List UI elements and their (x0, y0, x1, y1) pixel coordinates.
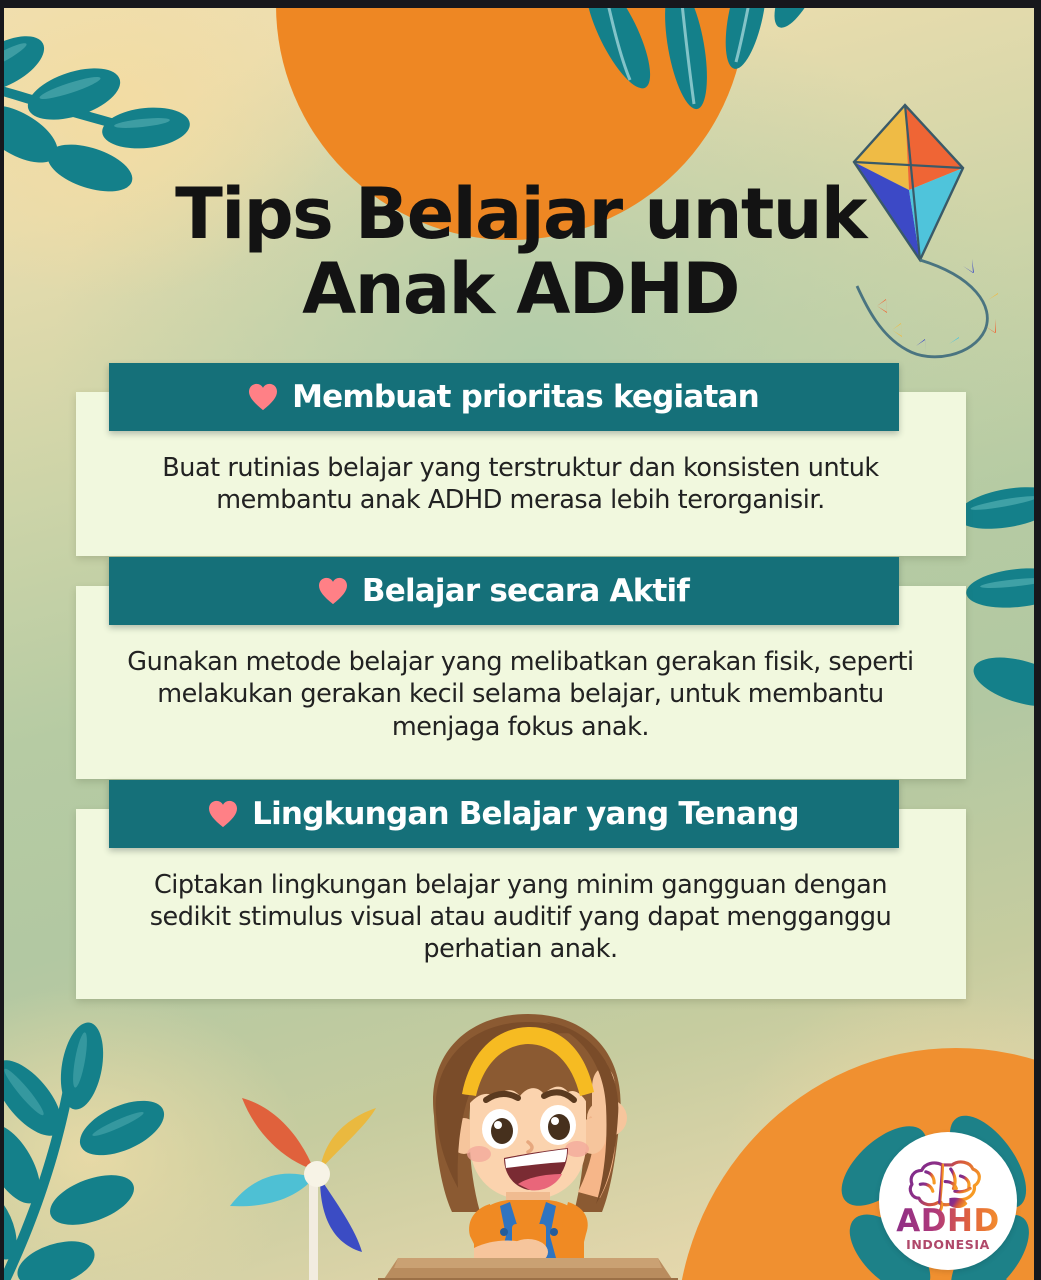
tip-card: Buat rutinias belajar yang terstruktur d… (76, 392, 966, 556)
tip-description: Buat rutinias belajar yang terstruktur d… (120, 452, 922, 516)
tip-card: Gunakan metode belajar yang melibatkan g… (76, 586, 966, 778)
frame-edge-right (1034, 0, 1041, 1280)
title-line-1: Tips Belajar untuk (60, 178, 981, 251)
tip-card-header: Belajar secara Aktif (109, 557, 899, 625)
tip-card-header: Membuat prioritas kegiatan (109, 363, 899, 431)
frame-edge-left (0, 0, 4, 1280)
heart-icon (208, 800, 238, 828)
infographic-poster: Tips Belajar untuk Anak ADHD Buat rutini… (0, 0, 1041, 1280)
tip-description: Ciptakan lingkungan belajar yang minim g… (120, 869, 922, 965)
tip-title: Lingkungan Belajar yang Tenang (252, 796, 799, 832)
page-title: Tips Belajar untuk Anak ADHD (0, 178, 1041, 326)
frame-edge-top (0, 0, 1041, 8)
tip-title: Membuat prioritas kegiatan (292, 379, 759, 415)
title-line-2: Anak ADHD (60, 253, 981, 326)
adhd-indonesia-logo: ADHD INDONESIA (879, 1132, 1017, 1270)
tip-card-header: Lingkungan Belajar yang Tenang (109, 780, 899, 848)
tip-title: Belajar secara Aktif (362, 573, 689, 609)
tip-description: Gunakan metode belajar yang melibatkan g… (120, 646, 922, 742)
tips-list: Buat rutinias belajar yang terstruktur d… (0, 392, 1041, 999)
heart-icon (248, 383, 278, 411)
tip-card: Ciptakan lingkungan belajar yang minim g… (76, 809, 966, 999)
logo-wordmark: ADHD (896, 1206, 999, 1237)
logo-subtitle: INDONESIA (906, 1237, 990, 1252)
heart-icon (318, 577, 348, 605)
